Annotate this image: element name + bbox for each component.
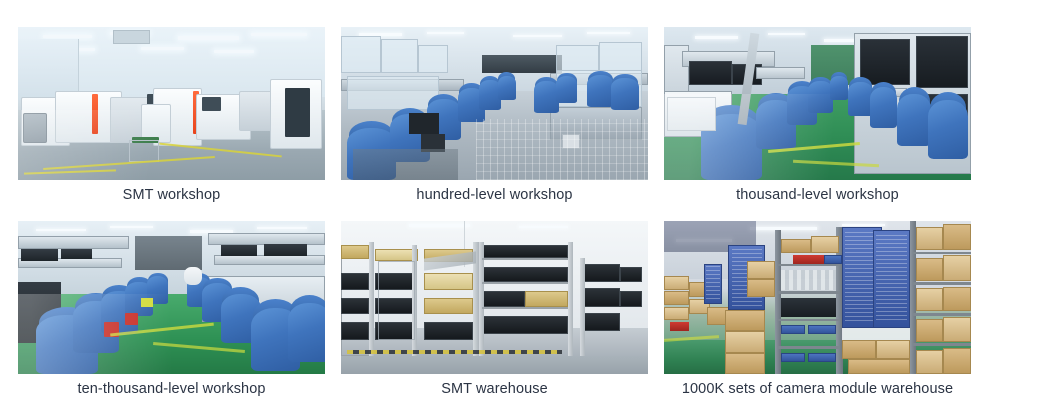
facility-image-gallery: SMT workshop <box>0 0 1059 416</box>
photo-hundred-level-workshop[interactable] <box>341 27 648 180</box>
caption-ten-thousand-level-workshop: ten-thousand-level workshop <box>18 374 325 397</box>
gallery-row-2: ten-thousand-level workshop <box>18 221 1041 397</box>
photo-camera-module-warehouse[interactable] <box>664 221 971 374</box>
caption-thousand-level-workshop: thousand-level workshop <box>664 180 971 203</box>
gallery-item-hundred-level-workshop[interactable]: hundred-level workshop <box>341 27 648 203</box>
caption-hundred-level-workshop: hundred-level workshop <box>341 180 648 203</box>
photo-smt-workshop[interactable] <box>18 27 325 180</box>
gallery-item-ten-thousand-level-workshop[interactable]: ten-thousand-level workshop <box>18 221 325 397</box>
photo-thousand-level-workshop[interactable] <box>664 27 971 180</box>
gallery-item-camera-module-warehouse[interactable]: 1000K sets of camera module warehouse <box>664 221 971 397</box>
gallery-item-smt-warehouse[interactable]: SMT warehouse <box>341 221 648 397</box>
caption-smt-workshop: SMT workshop <box>18 180 325 203</box>
caption-smt-warehouse: SMT warehouse <box>341 374 648 397</box>
gallery-row-1: SMT workshop <box>18 27 1041 203</box>
photo-smt-warehouse[interactable] <box>341 221 648 374</box>
gallery-item-thousand-level-workshop[interactable]: thousand-level workshop <box>664 27 971 203</box>
caption-camera-module-warehouse: 1000K sets of camera module warehouse <box>664 374 971 397</box>
photo-ten-thousand-level-workshop[interactable] <box>18 221 325 374</box>
gallery-item-smt-workshop[interactable]: SMT workshop <box>18 27 325 203</box>
